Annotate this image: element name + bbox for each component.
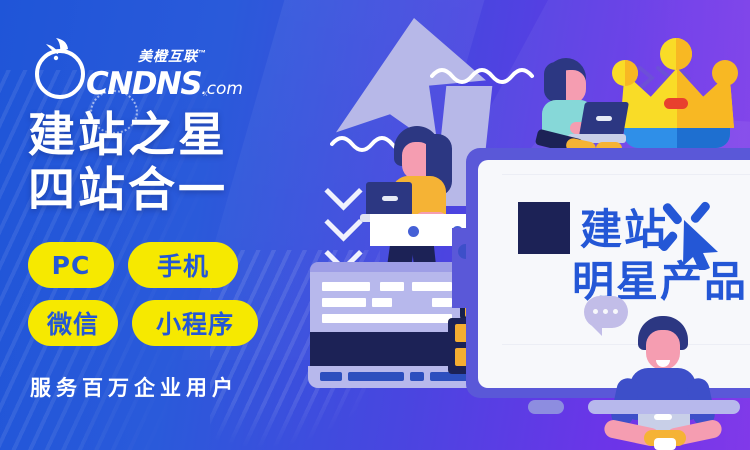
headline: 建站之星 四站合一 bbox=[28, 108, 328, 218]
floor-dash bbox=[528, 400, 564, 414]
monitor-card-square bbox=[518, 202, 570, 254]
chevron-down-stack-icon bbox=[330, 178, 357, 267]
logo-small-x-mark: x bbox=[203, 88, 208, 98]
headline-line-1: 建站之星 bbox=[28, 108, 328, 163]
orange-fruit-o-icon bbox=[30, 30, 90, 102]
promo-banner: 建站 明星产品 bbox=[0, 0, 750, 450]
pill-mobile[interactable]: 手机 bbox=[128, 242, 238, 288]
brand-cn-name: 美橙互联™ bbox=[138, 46, 207, 66]
headline-line-2: 四站合一 bbox=[28, 163, 328, 218]
tagline: 服务百万企业用户 bbox=[30, 372, 238, 402]
platform-pill-group: PC 手机 微信 小程序 bbox=[28, 242, 308, 346]
man-floor-mat bbox=[588, 400, 740, 414]
brand-logo[interactable]: 美橙互联™ CNDNS.com bbox=[30, 30, 260, 105]
person-with-laptop-sitting bbox=[530, 58, 640, 154]
man-with-laptop-crosslegged bbox=[606, 316, 726, 450]
pill-pc[interactable]: PC bbox=[28, 242, 114, 288]
pill-miniapp[interactable]: 小程序 bbox=[132, 300, 258, 346]
pill-wechat[interactable]: 微信 bbox=[28, 300, 118, 346]
click-cursor-icon[interactable] bbox=[656, 190, 736, 270]
